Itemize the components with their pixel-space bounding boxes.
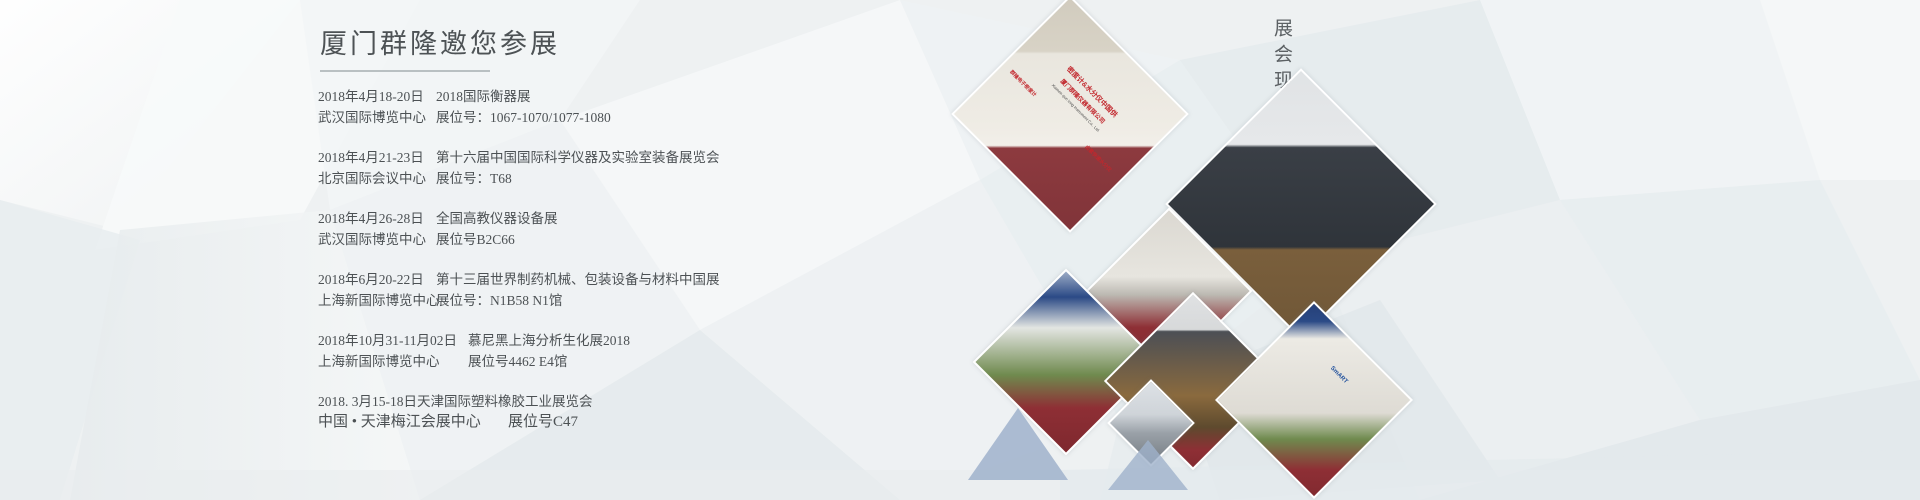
exhibition-name: 第十三届世界制药机械、包装设备与材料中国展 bbox=[436, 269, 720, 290]
collage-photo-green-booth: SmART bbox=[1215, 301, 1413, 499]
exhibition-entry: 2018年4月26-28日 全国高教仪器设备展 武汉国际博览中心 展位号B2C6… bbox=[318, 208, 1078, 250]
exhibition-name: 2018国际衡器展 bbox=[436, 86, 531, 107]
exhibition-booth: 展位号C47 bbox=[508, 412, 578, 433]
exhibition-venue: 上海新国际博览中心 bbox=[318, 290, 436, 311]
exhibition-booth: 展位号4462 E4馆 bbox=[468, 351, 567, 372]
exhibition-venue: 武汉国际博览中心 bbox=[318, 229, 436, 250]
exhibition-date: 2018. 3月15-18日天津国际塑料橡胶工业展览会 bbox=[318, 394, 593, 409]
exhibition-date: 2018年4月18-20日 bbox=[318, 86, 436, 107]
exhibition-name: 慕尼黑上海分析生化展2018 bbox=[468, 330, 630, 351]
exhibition-date: 2018年4月26-28日 bbox=[318, 208, 436, 229]
exhibition-name: 第十六届中国国际科学仪器及实验室装备展览会 bbox=[436, 147, 720, 168]
page-title: 厦门群隆邀您参展 bbox=[320, 22, 1078, 61]
exhibition-date: 2018年10月31-11月02日 bbox=[318, 330, 468, 351]
exhibition-booth: 展位号：N1B58 N1馆 bbox=[436, 290, 562, 311]
exhibition-entry: 2018年6月20-22日 第十三届世界制药机械、包装设备与材料中国展 上海新国… bbox=[318, 269, 1078, 311]
exhibition-venue: 武汉国际博览中心 bbox=[318, 107, 436, 128]
exhibition-booth: 展位号B2C66 bbox=[436, 229, 515, 250]
exhibition-venue: 北京国际会议中心 bbox=[318, 168, 436, 189]
exhibition-date: 2018年4月21-23日 bbox=[318, 147, 436, 168]
exhibition-venue: 上海新国际博览中心 bbox=[318, 351, 468, 372]
photo-image bbox=[1215, 301, 1413, 499]
exhibition-entry: 2018年4月21-23日 第十六届中国国际科学仪器及实验室装备展览会 北京国际… bbox=[318, 147, 1078, 189]
photo-collage: 密度计&水分仪中国供 厦门群隆仪器有限公司 Xiamen qun long In… bbox=[1028, 0, 1498, 500]
exhibition-name: 全国高教仪器设备展 bbox=[436, 208, 558, 229]
exhibition-booth: 展位号：1067-1070/1077-1080 bbox=[436, 107, 611, 128]
exhibition-date: 2018年6月20-22日 bbox=[318, 269, 436, 290]
decorative-triangle-right bbox=[1018, 360, 1218, 500]
exhibition-venue: 中国 • 天津梅江会展中心 bbox=[318, 412, 508, 433]
title-divider bbox=[320, 70, 490, 72]
exhibition-banner: 厦门群隆邀您参展 2018年4月18-20日 2018国际衡器展 武汉国际博览中… bbox=[0, 0, 1920, 500]
exhibition-booth: 展位号：T68 bbox=[436, 168, 512, 189]
